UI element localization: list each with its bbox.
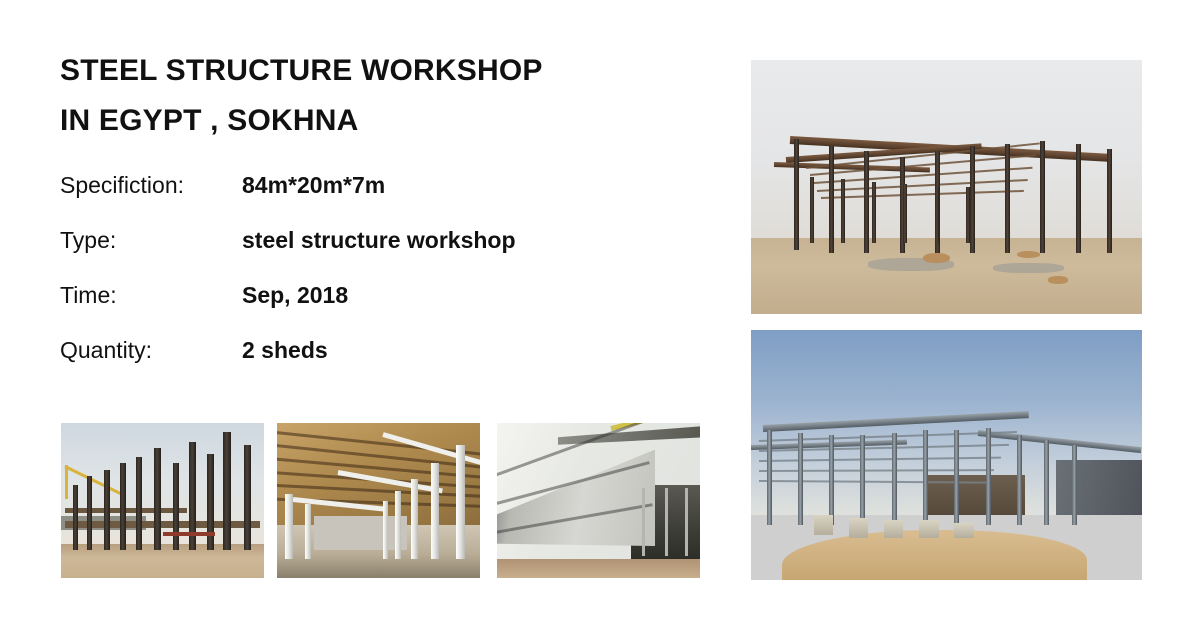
clad-wall-layer	[1056, 460, 1142, 515]
steel-column	[207, 454, 214, 550]
interior-column	[305, 504, 311, 560]
page-title-line-1: STEEL STRUCTURE WORKSHOP	[60, 46, 720, 96]
clad-wall-exterior-photo	[497, 423, 700, 578]
spec-label-type: Type:	[60, 225, 242, 255]
steel-column	[860, 435, 865, 525]
interior-column	[285, 494, 293, 559]
project-info-panel: STEEL STRUCTURE WORKSHOP IN EGYPT , SOKH…	[60, 46, 720, 390]
steel-column	[841, 179, 845, 243]
steel-post	[665, 488, 668, 556]
page-title: STEEL STRUCTURE WORKSHOP IN EGYPT , SOKH…	[60, 46, 720, 146]
steel-column	[154, 448, 161, 550]
steel-column	[829, 146, 834, 253]
spec-value-type: steel structure workshop	[242, 225, 516, 255]
steel-column	[1017, 435, 1022, 525]
steel-column	[935, 187, 939, 243]
steel-columns-erection-photo	[61, 423, 264, 578]
steel-column	[104, 470, 110, 551]
steel-column	[1107, 149, 1112, 253]
concrete-footing	[849, 518, 869, 538]
spec-row-quantity: Quantity: 2 sheds	[60, 335, 720, 390]
interior-column	[411, 479, 418, 560]
interior-column	[383, 501, 388, 560]
steel-column	[966, 187, 970, 243]
steel-column	[1076, 144, 1081, 253]
steel-column	[1072, 445, 1077, 525]
sand-debris	[923, 253, 950, 263]
spec-value-quantity: 2 sheds	[242, 335, 328, 365]
spec-label-time: Time:	[60, 280, 242, 310]
interior-column	[395, 491, 401, 559]
workshop-interior-photo	[277, 423, 480, 578]
steel-column	[829, 435, 834, 525]
sand-debris	[1048, 276, 1068, 284]
spec-label-specification: Specifiction:	[60, 170, 242, 200]
steel-column	[73, 485, 78, 550]
steel-column	[864, 151, 869, 253]
steel-post	[685, 488, 688, 556]
concrete-footing	[814, 515, 834, 535]
concrete-patch	[993, 263, 1063, 273]
spec-value-specification: 84m*20m*7m	[242, 170, 385, 200]
steel-column	[798, 433, 803, 526]
back-wall-layer	[314, 516, 407, 550]
steel-column	[244, 445, 251, 550]
concrete-footing	[884, 520, 904, 538]
steel-column	[223, 432, 231, 550]
page-title-line-2: IN EGYPT , SOKHNA	[60, 96, 720, 146]
steel-column	[1005, 144, 1010, 253]
spec-value-time: Sep, 2018	[242, 280, 348, 310]
red-equipment	[163, 532, 216, 536]
steel-column	[810, 177, 814, 243]
steel-post	[642, 488, 645, 556]
concrete-footing	[919, 520, 939, 538]
steel-column	[872, 182, 876, 243]
steel-column	[1044, 440, 1049, 525]
steel-column	[120, 463, 126, 550]
steel-column	[903, 184, 907, 242]
steel-column	[892, 433, 897, 526]
steel-column	[1040, 141, 1045, 253]
upper-deck-beam	[65, 508, 187, 513]
steel-column	[136, 457, 142, 550]
steel-column	[970, 146, 975, 253]
steel-column	[767, 430, 772, 525]
concrete-footing	[954, 523, 974, 538]
spec-row-specification: Specifiction: 84m*20m*7m	[60, 170, 720, 225]
specification-table: Specifiction: 84m*20m*7m Type: steel str…	[60, 170, 720, 390]
crane-mast	[65, 465, 68, 499]
steel-column	[954, 430, 959, 525]
spec-row-type: Type: steel structure workshop	[60, 225, 720, 280]
rust-steel-frame-photo	[751, 60, 1142, 314]
grey-steel-frame-photo	[751, 330, 1142, 580]
interior-column	[431, 463, 439, 559]
spec-label-quantity: Quantity:	[60, 335, 242, 365]
steel-column	[986, 428, 991, 526]
sand-debris	[1017, 251, 1040, 259]
spec-row-time: Time: Sep, 2018	[60, 280, 720, 335]
ground-layer	[497, 559, 700, 578]
steel-column	[923, 430, 928, 525]
steel-column	[173, 463, 179, 550]
steel-column	[87, 476, 92, 550]
steel-column	[794, 139, 799, 251]
interior-column	[456, 445, 465, 560]
